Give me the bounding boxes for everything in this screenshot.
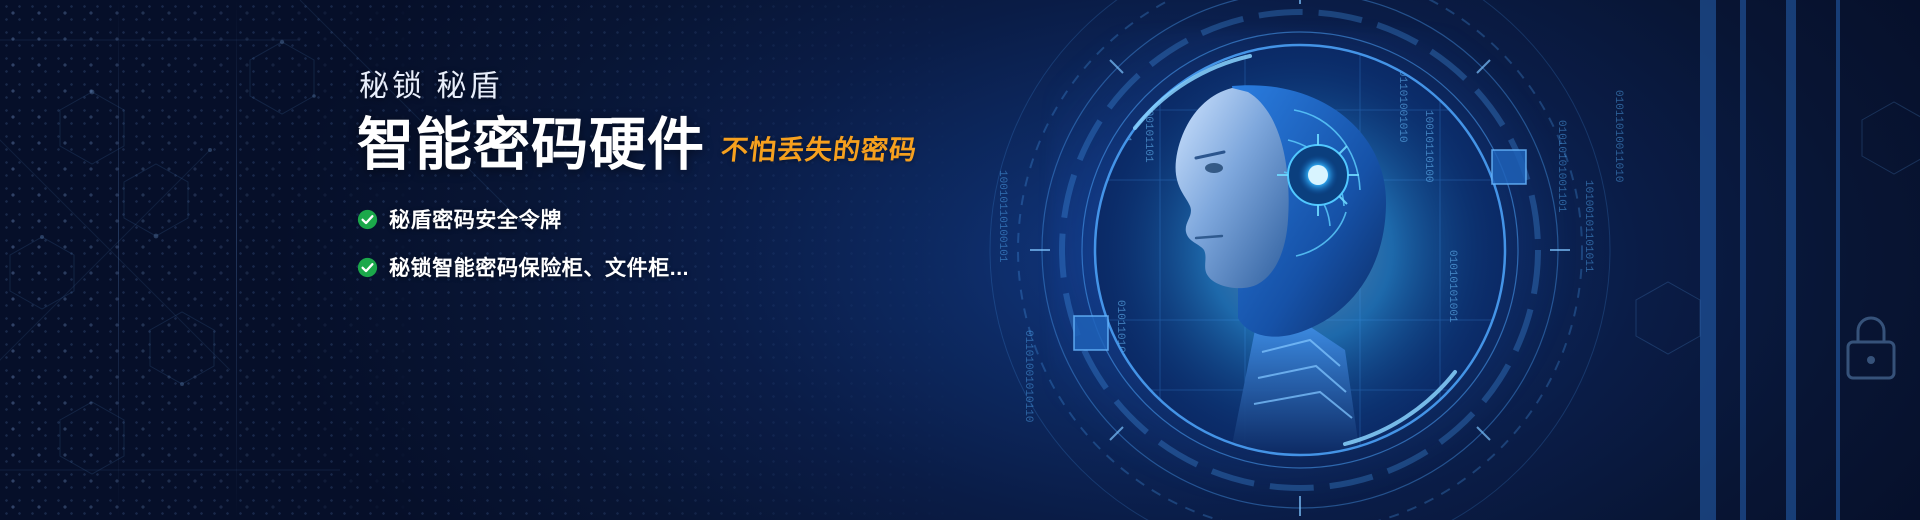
- blue-glow: [1050, 30, 1570, 500]
- feature-list: 秘盾密码安全令牌 秘锁智能密码保险柜、文件柜...: [357, 204, 977, 282]
- list-item: 秘锁智能密码保险柜、文件柜...: [357, 252, 977, 282]
- feature-label: 秘盾密码安全令牌: [389, 204, 562, 234]
- banner-headline: 智能密码硬件: [357, 116, 705, 174]
- banner-eyebrow: 秘锁 秘盾: [359, 72, 977, 102]
- check-circle-icon: [357, 257, 378, 278]
- check-circle-icon: [357, 209, 378, 230]
- hero-banner: 秘锁 秘盾 智能密码硬件 不怕丢失的密码 秘盾密码安全令牌 秘锁智能密码保险柜、…: [0, 0, 1920, 520]
- banner-copy: 秘锁 秘盾 智能密码硬件 不怕丢失的密码 秘盾密码安全令牌 秘锁智能密码保险柜、…: [357, 72, 977, 300]
- banner-subline: 不怕丢失的密码: [719, 128, 920, 174]
- list-item: 秘盾密码安全令牌: [357, 204, 977, 234]
- headline-row: 智能密码硬件 不怕丢失的密码: [357, 116, 977, 174]
- feature-label: 秘锁智能密码保险柜、文件柜...: [389, 252, 689, 282]
